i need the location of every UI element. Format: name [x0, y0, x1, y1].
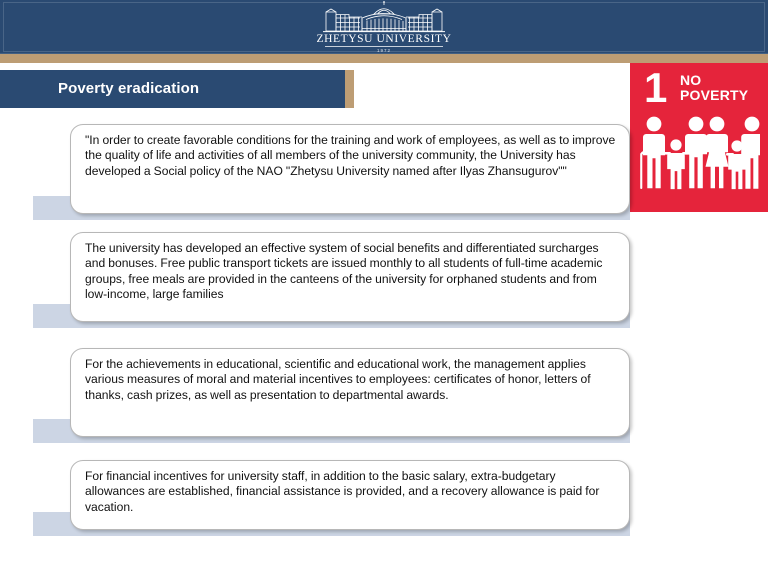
gold-accent-strip [0, 54, 768, 63]
block-box-4: For financial incentives for university … [70, 460, 630, 530]
block-text-4: For financial incentives for university … [85, 469, 617, 515]
block-box-1: "In order to create favorable conditions… [70, 124, 630, 214]
sdg-label-line-1: NO [680, 73, 748, 88]
block-box-3: For the achievements in educational, sci… [70, 348, 630, 437]
family-pictogram-icon [638, 115, 760, 197]
university-name: ZHETYSU UNIVERSITY [309, 33, 459, 45]
header-band: ZHETYSU UNIVERSITY 1972 [0, 0, 768, 54]
zhetysu-university-logo: ZHETYSU UNIVERSITY 1972 [309, 1, 459, 53]
block-text-3: For the achievements in educational, sci… [85, 357, 617, 403]
sdg-label-line-2: POVERTY [680, 88, 748, 103]
block-text-2: The university has developed an effectiv… [85, 241, 617, 303]
block-text-1: "In order to create favorable conditions… [85, 133, 617, 179]
block-box-2: The university has developed an effectiv… [70, 232, 630, 322]
slide-title-accent [345, 70, 354, 108]
page-title: Poverty eradication [58, 80, 199, 97]
sdg-goal-number: 1 [644, 67, 667, 109]
founded-year: 1972 [309, 48, 459, 53]
sdg-1-no-poverty-badge: 1 NO POVERTY [630, 63, 768, 212]
university-building-icon [322, 1, 446, 33]
sdg-goal-label: NO POVERTY [680, 73, 748, 103]
logo-divider [325, 46, 443, 47]
